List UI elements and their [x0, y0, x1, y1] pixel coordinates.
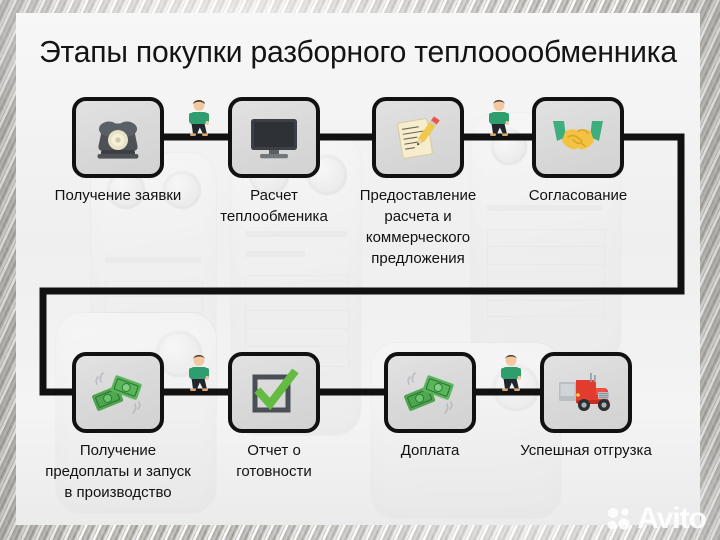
- walker-icon-4: [498, 354, 524, 397]
- walker-icon-3: [186, 354, 212, 397]
- step-8-box[interactable]: [540, 352, 632, 433]
- step-6-label: Отчет о готовности: [204, 440, 344, 482]
- notepad-pencil-icon: [391, 114, 445, 162]
- telephone-icon: [92, 115, 144, 161]
- content-panel: Этапы покупки разборного теплооообменник…: [16, 13, 700, 525]
- step-1-label: Получение заявки: [28, 185, 208, 206]
- monitor-icon: [247, 115, 301, 161]
- handshake-icon: [551, 117, 605, 159]
- walker-icon-2: [486, 99, 512, 142]
- avito-watermark: Avito: [606, 504, 706, 534]
- step-4-label: Согласование: [500, 185, 656, 206]
- money-icon: [90, 369, 146, 417]
- walker-icon-1: [186, 99, 212, 142]
- step-3-box[interactable]: [372, 97, 464, 178]
- step-7-label: Доплата: [360, 440, 500, 461]
- infographic-canvas: Этапы покупки разборного теплооообменник…: [0, 0, 720, 540]
- checkbox-check-icon: [249, 369, 299, 417]
- step-2-box[interactable]: [228, 97, 320, 178]
- avito-dots-logo-icon: [606, 506, 632, 532]
- delivery-truck-icon: [557, 371, 615, 415]
- step-3-label: Предоставление расчета и коммерческого п…: [330, 185, 506, 269]
- step-5-label: Получение предоплаты и запуск в производ…: [18, 440, 218, 503]
- step-7-box[interactable]: [384, 352, 476, 433]
- money-icon: [402, 369, 458, 417]
- step-8-label: Успешная отгрузка: [506, 440, 666, 461]
- step-4-box[interactable]: [532, 97, 624, 178]
- step-5-box[interactable]: [72, 352, 164, 433]
- avito-wordmark: Avito: [637, 504, 706, 534]
- step-1-box[interactable]: [72, 97, 164, 178]
- step-6-box[interactable]: [228, 352, 320, 433]
